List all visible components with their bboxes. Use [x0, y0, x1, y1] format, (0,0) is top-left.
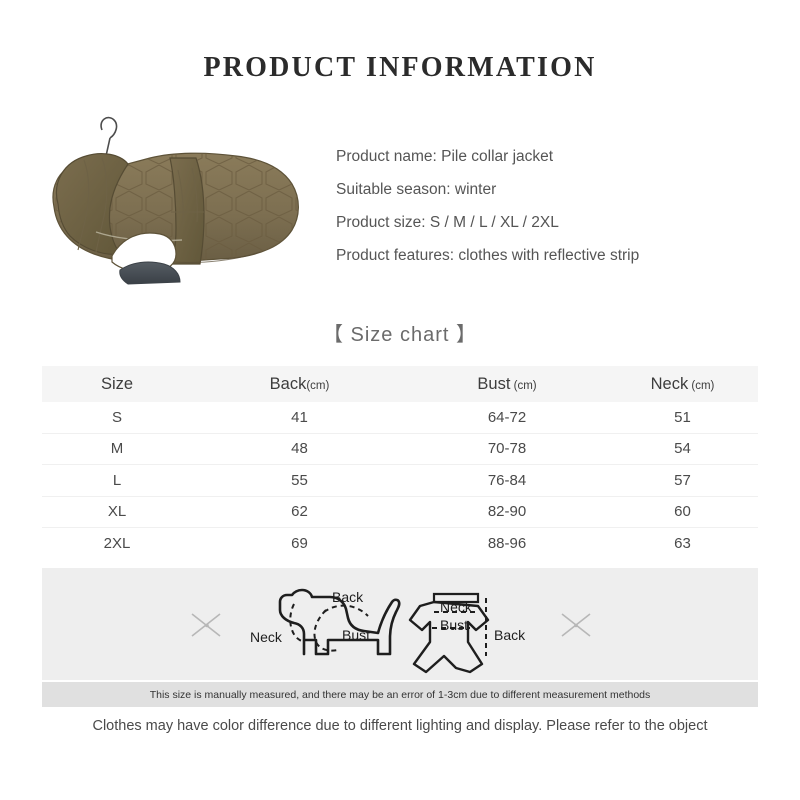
- leash-ring-icon: [101, 118, 116, 138]
- product-spec-list: Product name: Pile collar jacket Suitabl…: [336, 140, 756, 272]
- spec-line-sizes: Product size: S / M / L / XL / 2XL: [336, 206, 756, 239]
- cell-size: XL: [42, 496, 192, 528]
- cell-neck: 57: [607, 465, 758, 497]
- table-row: XL 62 82-90 60: [42, 496, 758, 528]
- cell-bust: 82-90: [407, 496, 607, 528]
- cell-back: 41: [192, 402, 407, 433]
- column-header-bust: Bust (cm): [407, 366, 607, 402]
- garment-label-neck: Neck: [440, 599, 473, 615]
- cell-back: 62: [192, 496, 407, 528]
- column-header-neck-label: Neck: [651, 375, 689, 393]
- table-row: 2XL 69 88-96 63: [42, 528, 758, 559]
- cell-bust: 70-78: [407, 433, 607, 465]
- spec-line-features: Product features: clothes with reflectiv…: [336, 239, 756, 272]
- garment-label-bust: Bust: [440, 617, 468, 633]
- column-header-bust-label: Bust: [477, 375, 510, 393]
- size-chart-table: Size Back(cm) Bust (cm) Neck (cm) S 41 6…: [42, 366, 758, 559]
- table-row: M 48 70-78 54: [42, 433, 758, 465]
- size-chart-heading: 【 Size chart 】: [0, 318, 800, 347]
- cell-back: 48: [192, 433, 407, 465]
- measurement-note-bar: This size is manually measured, and ther…: [42, 682, 758, 707]
- cell-back: 55: [192, 465, 407, 497]
- dog-label-back: Back: [332, 589, 364, 605]
- column-header-size: Size: [42, 366, 192, 402]
- dog-label-bust: Bust: [342, 627, 370, 643]
- cell-size: S: [42, 402, 192, 433]
- table-row: L 55 76-84 57: [42, 465, 758, 497]
- measurement-note-text: This size is manually measured, and ther…: [150, 689, 651, 701]
- cell-neck: 51: [607, 402, 758, 433]
- cell-neck: 54: [607, 433, 758, 465]
- cell-back: 69: [192, 528, 407, 559]
- cell-bust: 88-96: [407, 528, 607, 559]
- table-row: S 41 64-72 51: [42, 402, 758, 433]
- cell-size: 2XL: [42, 528, 192, 559]
- column-header-back-label: Back: [270, 375, 307, 393]
- column-header-size-label: Size: [101, 375, 133, 393]
- measurement-diagram-band: Neck Back Bust Neck Bust Back: [42, 568, 758, 680]
- column-header-neck: Neck (cm): [607, 366, 758, 402]
- spec-line-season: Suitable season: winter: [336, 173, 756, 206]
- cell-neck: 60: [607, 496, 758, 528]
- cell-bust: 76-84: [407, 465, 607, 497]
- spec-line-product-name: Product name: Pile collar jacket: [336, 140, 756, 173]
- column-header-back: Back(cm): [192, 366, 407, 402]
- cell-size: M: [42, 433, 192, 465]
- page-title: PRODUCT INFORMATION: [0, 52, 800, 84]
- column-header-neck-unit: (cm): [688, 380, 714, 392]
- dog-label-neck: Neck: [250, 629, 283, 645]
- color-difference-note: Clothes may have color difference due to…: [0, 718, 800, 734]
- cell-size: L: [42, 465, 192, 497]
- column-header-back-unit: (cm): [306, 380, 329, 392]
- cell-neck: 63: [607, 528, 758, 559]
- table-header-row: Size Back(cm) Bust (cm) Neck (cm): [42, 366, 758, 402]
- garment-label-back: Back: [494, 627, 526, 643]
- product-image: [24, 112, 324, 302]
- column-header-bust-unit: (cm): [510, 380, 536, 392]
- cell-bust: 64-72: [407, 402, 607, 433]
